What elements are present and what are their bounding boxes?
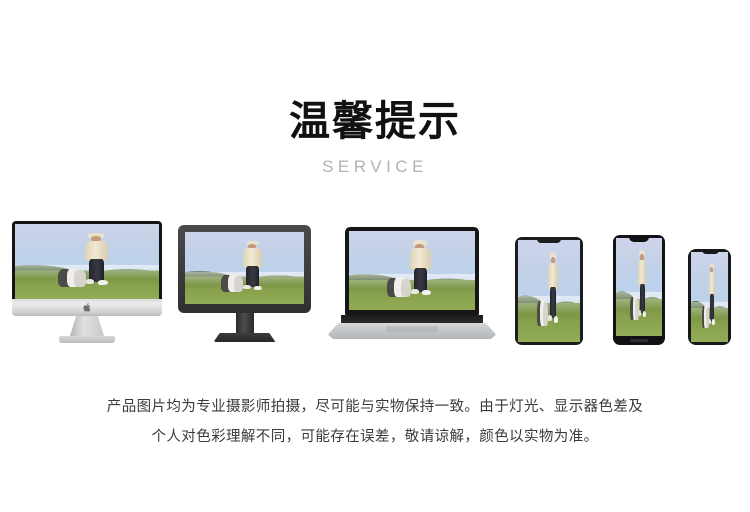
person-pants bbox=[89, 259, 104, 282]
monitor-stand-neck bbox=[236, 313, 254, 335]
phone-medium-notch bbox=[629, 235, 649, 242]
person-shoe-front bbox=[643, 311, 646, 317]
person-figure bbox=[548, 252, 559, 325]
person-figure bbox=[84, 233, 110, 287]
monitor-stand-foot bbox=[214, 333, 276, 342]
monitor-display-panel bbox=[178, 225, 311, 313]
imac-stand-foot bbox=[59, 336, 115, 343]
person-pants bbox=[640, 284, 645, 314]
phone-large-notch bbox=[537, 237, 561, 243]
person-jacket bbox=[709, 272, 715, 297]
person-shoe-front bbox=[422, 290, 431, 295]
phone-medium-screen bbox=[616, 238, 662, 336]
imac-display-panel bbox=[12, 221, 162, 299]
person-jacket bbox=[85, 241, 109, 262]
person-figure bbox=[638, 250, 646, 321]
imac-stand-neck bbox=[70, 316, 104, 336]
device-phone-large bbox=[515, 237, 583, 345]
device-imac bbox=[12, 221, 162, 345]
page-subtitle: SERVICE bbox=[0, 146, 750, 177]
person-shoe-back bbox=[86, 279, 95, 283]
device-laptop bbox=[328, 227, 496, 345]
person-pants bbox=[246, 266, 258, 288]
person-shoe-front bbox=[554, 316, 558, 323]
laptop-screen bbox=[349, 231, 475, 310]
laptop-keyboard bbox=[341, 315, 483, 324]
person-pants bbox=[550, 287, 556, 318]
person-shoe-back bbox=[243, 285, 250, 289]
person-pants bbox=[414, 268, 427, 292]
person-shoe-front bbox=[98, 280, 108, 285]
imac-chin bbox=[12, 299, 162, 316]
disclaimer-line-2: 个人对色彩理解不同，可能存在误差，敬请谅解，颜色以实物为准。 bbox=[0, 422, 750, 452]
person-jacket bbox=[638, 260, 646, 287]
device-phone-small bbox=[688, 249, 731, 345]
laptop-lid bbox=[345, 227, 479, 315]
person-figure bbox=[242, 241, 263, 293]
person-shoe-back bbox=[548, 315, 552, 321]
device-phone-medium bbox=[613, 235, 665, 345]
imac-screen bbox=[15, 224, 159, 299]
apple-logo-icon bbox=[83, 303, 91, 312]
person-figure bbox=[409, 240, 432, 297]
product-photo-phone-large bbox=[518, 240, 580, 342]
person-shoe-front bbox=[712, 319, 715, 325]
page-header: 温馨提示 SERVICE bbox=[0, 0, 750, 177]
person-jacket bbox=[548, 263, 558, 291]
product-photo-phone-small bbox=[691, 252, 728, 342]
person-jacket bbox=[410, 248, 431, 270]
laptop-trackpad bbox=[386, 326, 438, 332]
person-figure bbox=[709, 263, 716, 328]
phone-small-screen bbox=[691, 252, 728, 342]
disclaimer-block: 产品图片均为专业摄影师拍摄，尽可能与实物保持一致。由于灯光、显示器色差及 个人对… bbox=[0, 392, 750, 452]
phone-large-screen bbox=[518, 240, 580, 342]
product-photo-imac bbox=[15, 224, 159, 299]
person-shoe-back bbox=[411, 289, 419, 294]
phone-small-notch bbox=[702, 249, 719, 254]
phone-medium-body bbox=[613, 235, 665, 345]
person-jacket bbox=[243, 248, 263, 268]
device-showcase-row bbox=[0, 205, 750, 345]
page-title: 温馨提示 bbox=[0, 0, 750, 146]
phone-large-body bbox=[515, 237, 583, 345]
disclaimer-line-1: 产品图片均为专业摄影师拍摄，尽可能与实物保持一致。由于灯光、显示器色差及 bbox=[0, 392, 750, 422]
person-shoe-back bbox=[639, 310, 642, 316]
phone-medium-home-button[interactable] bbox=[630, 339, 648, 342]
product-photo-laptop bbox=[349, 231, 475, 310]
product-photo-phone-medium bbox=[616, 238, 662, 336]
monitor-screen bbox=[185, 232, 304, 304]
person-pants bbox=[710, 294, 714, 321]
product-photo-monitor bbox=[185, 232, 304, 304]
person-shoe-front bbox=[254, 286, 263, 291]
phone-small-body bbox=[688, 249, 731, 345]
device-monitor bbox=[178, 225, 311, 345]
